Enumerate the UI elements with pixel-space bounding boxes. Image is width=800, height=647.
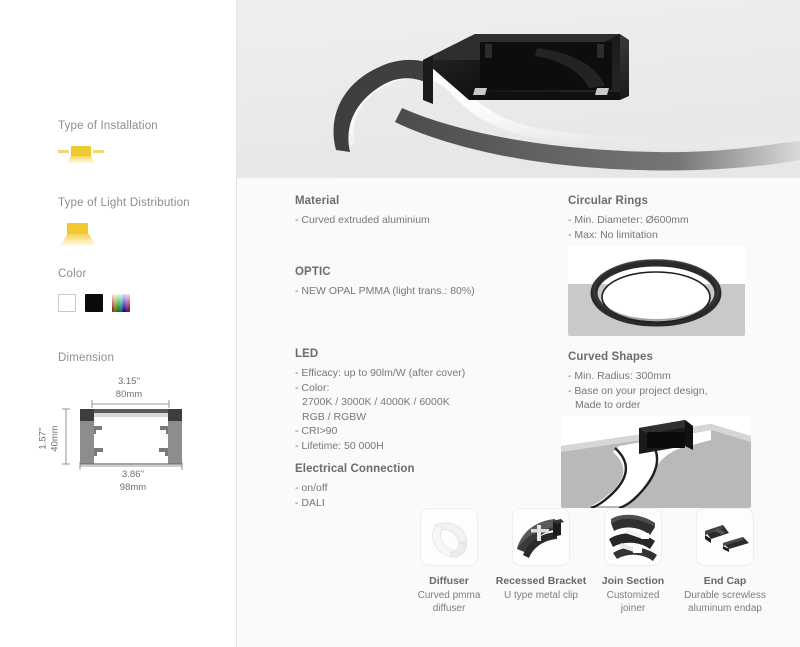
swatch-rgb[interactable]	[112, 294, 130, 312]
dim-top-mm: 80mm	[82, 389, 176, 400]
specifications-content: Material - Curved extruded aluminium OPT…	[237, 178, 800, 647]
spec-material: Material - Curved extruded aluminium	[295, 195, 430, 228]
led-title: LED	[295, 348, 465, 360]
installation-block: Type of Installation	[58, 120, 158, 164]
led-line-5: - Lifetime: 50 000H	[295, 439, 465, 454]
light-cone	[67, 156, 95, 164]
spec-electrical: Electrical Connection - on/off - DALI	[295, 463, 415, 510]
swatch-white[interactable]	[58, 294, 76, 312]
installation-icon-wrap	[58, 146, 158, 164]
fixture-body	[71, 146, 91, 157]
led-line-0: - Efficacy: up to 90lm/W (after cover)	[295, 366, 465, 381]
spec-curved-shapes: Curved Shapes - Min. Radius: 300mm - Bas…	[568, 351, 708, 413]
circular-rings-line-1: - Max: No limitation	[568, 228, 689, 243]
end-cap-icon	[696, 508, 754, 566]
right-pane: Material - Curved extruded aluminium OPT…	[237, 0, 800, 647]
light-distribution-label: Type of Light Distribution	[58, 197, 190, 209]
spec-circular-rings: Circular Rings - Min. Diameter: Ø600mm -…	[568, 195, 689, 242]
dimension-drawing: 3.15'' 80mm 1.57'' 40mm 3.86'' 98mm	[36, 376, 226, 491]
light-distribution-block: Type of Light Distribution	[58, 197, 190, 247]
optic-title: OPTIC	[295, 266, 475, 278]
dim-bottom-inch: 3.86''	[78, 469, 188, 480]
curved-shapes-photo	[561, 416, 751, 508]
material-line-0: - Curved extruded aluminium	[295, 213, 430, 228]
color-block: Color	[58, 268, 130, 312]
installation-label: Type of Installation	[58, 120, 158, 132]
direct-downlight-icon	[58, 223, 98, 247]
flange-right	[93, 150, 104, 153]
spec-led: LED - Efficacy: up to 90lm/W (after cove…	[295, 348, 465, 453]
light-distribution-icon-wrap	[58, 223, 190, 247]
led-line-4: - CRI>90	[295, 424, 465, 439]
circular-rings-line-0: - Min. Diameter: Ø600mm	[568, 213, 689, 228]
end-cap-desc: Durable screwless aluminum endap	[670, 589, 780, 615]
dim-bottom-mm: 98mm	[78, 482, 188, 493]
left-sidebar: Type of Installation Type of Light Distr…	[0, 0, 237, 647]
led-line-2: 2700K / 3000K / 4000K / 6000K	[295, 395, 465, 410]
swatch-black[interactable]	[85, 294, 103, 312]
led-line-1: - Color:	[295, 381, 465, 396]
light-cone	[60, 234, 96, 247]
curved-shapes-line-1: - Base on your project design,	[568, 384, 708, 399]
end-cap-name: End Cap	[670, 575, 780, 587]
dim-height-mm: 40mm	[50, 419, 61, 459]
hero-product-image	[237, 0, 800, 178]
electrical-title: Electrical Connection	[295, 463, 415, 475]
product-spec-sheet: Type of Installation Type of Light Distr…	[0, 0, 800, 647]
led-line-3: RGB / RGBW	[295, 410, 465, 425]
flange-left	[58, 150, 69, 153]
curved-shapes-line-2: Made to order	[568, 398, 708, 413]
dimension-label: Dimension	[58, 352, 114, 364]
material-title: Material	[295, 195, 430, 207]
circular-rings-title: Circular Rings	[568, 195, 689, 207]
fixture-body	[67, 223, 88, 235]
dim-top-inch: 3.15''	[82, 376, 176, 387]
join-section-icon	[604, 508, 662, 566]
spec-optic: OPTIC - NEW OPAL PMMA (light trans.: 80%…	[295, 266, 475, 299]
curved-shapes-line-0: - Min. Radius: 300mm	[568, 369, 708, 384]
dimension-block: Dimension	[58, 352, 114, 364]
electrical-line-0: - on/off	[295, 481, 415, 496]
recessed-installation-icon	[58, 146, 104, 164]
color-swatches	[58, 294, 130, 312]
color-label: Color	[58, 268, 130, 280]
recessed-bracket-icon	[512, 508, 570, 566]
curved-shapes-title: Curved Shapes	[568, 351, 708, 363]
dim-height-inch: 1.57''	[38, 419, 49, 459]
diffuser-icon	[420, 508, 478, 566]
circular-ring-photo	[568, 246, 745, 336]
optic-line-0: - NEW OPAL PMMA (light trans.: 80%)	[295, 284, 475, 299]
accessory-end-cap: End Cap Durable screwless aluminum endap	[670, 508, 780, 615]
